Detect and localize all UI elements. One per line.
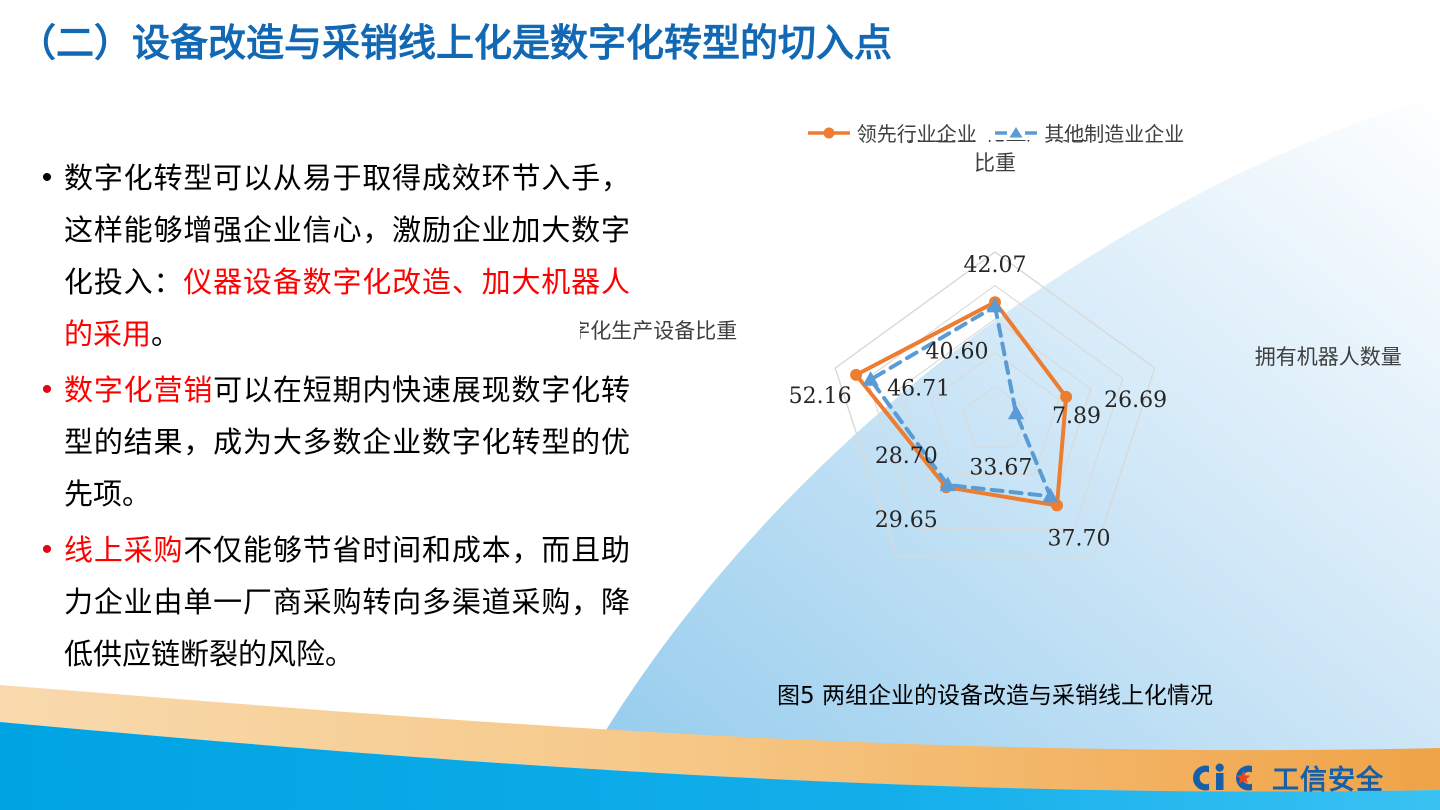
radar-data-label: 28.70 [875,444,938,469]
radar-point-marker [850,369,862,381]
legend-key-line-circle-icon [806,125,852,141]
radar-data-label: 26.69 [1104,388,1167,413]
radar-data-label: 29.65 [875,508,938,533]
bullet-text: 线上采购不仅能够节省时间和成本，而且助力企业由单一厂商采购转向多渠道采购，降低供… [64,524,630,680]
radar-data-label: 7.89 [1052,404,1101,429]
radar-data-label: 40.60 [926,339,989,364]
radar-point-marker [1060,391,1072,403]
bullet-text: 数字化营销可以在短期内快速展现数字化转型的结果，成为大多数企业数字化转型的优先项… [64,364,630,520]
list-item: • 线上采购不仅能够节省时间和成本，而且助力企业由单一厂商采购转向多渠道采购，降… [30,524,630,680]
page-title: （二）设备改造与采销线上化是数字化转型的切入点 [18,22,892,68]
radar-point-marker [1008,405,1024,420]
bullet-segment-highlight: 数字化营销 [64,373,213,407]
bullet-list: • 数字化转型可以从易于取得成效环节入手，这样能够增强企业信心，激励企业加大数字… [30,152,630,684]
bullet-segment: 。 [151,317,180,351]
list-item: • 数字化营销可以在短期内快速展现数字化转型的结果，成为大多数企业数字化转型的优… [30,364,630,520]
radar-data-label: 42.07 [964,253,1027,278]
radar-data-label: 33.67 [969,455,1032,480]
bullet-marker: • [30,364,64,416]
radar-axis-label: 数字化生产设备比重 [580,319,737,343]
cic-logo-icon [1188,761,1268,795]
radar-axis-label: 比重 [974,151,1016,175]
logo-text: 工信安全 [1272,758,1384,797]
legend-key-dashed-triangle-icon [993,125,1039,141]
bullet-segment-highlight: 线上采购 [64,533,183,567]
radar-axis-labels: 联网数字化生产设备比重拥有机器人数量网上采购率网上销售率数字化生产设备比重 [580,140,1402,610]
bullet-marker: • [30,524,64,576]
radar-data-label: 46.71 [887,377,950,402]
bullet-text: 数字化转型可以从易于取得成效环节入手，这样能够增强企业信心，激励企业加大数字化投… [64,152,630,360]
radar-data-label: 37.70 [1048,526,1111,551]
bullet-marker: • [30,152,64,204]
brand-logo: 工信安全 [1188,758,1384,797]
radar-axis-label: 联网数字化生产设备 [901,140,1090,145]
radar-plot-area: 42.0726.6937.7029.6552.1640.607.8933.672… [580,140,1410,610]
slide-root: （二）设备改造与采销线上化是数字化转型的切入点 • 数字化转型可以从易于取得成效… [0,0,1440,810]
list-item: • 数字化转型可以从易于取得成效环节入手，这样能够增强企业信心，激励企业加大数字… [30,152,630,360]
figure-caption: 图5 两组企业的设备改造与采销线上化情况 [580,676,1410,710]
radar-chart: 领先行业企业 其他制造业企业 42.0726.6937.7029.6552.16… [580,118,1410,618]
radar-data-label: 52.16 [789,384,852,409]
radar-axis-label: 拥有机器人数量 [1255,345,1402,369]
